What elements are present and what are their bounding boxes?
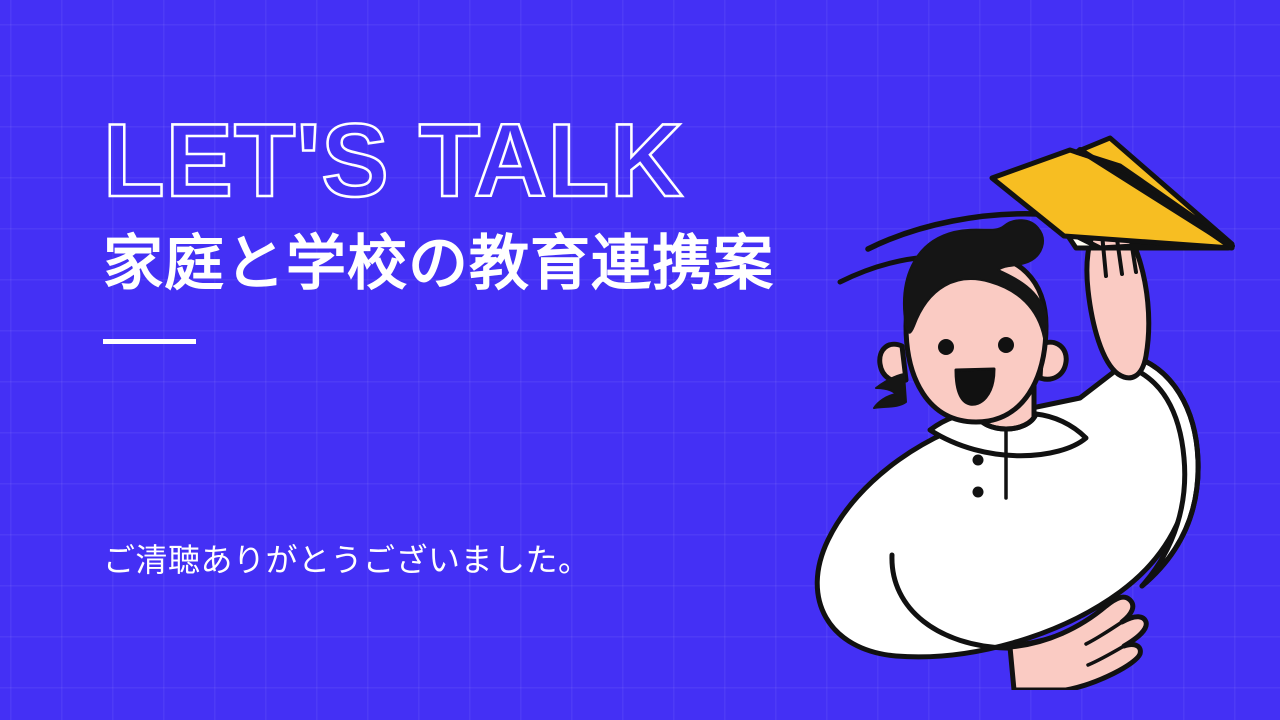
closing-text: ご清聴ありがとうございました。 <box>103 540 591 582</box>
slide-canvas: LET'S TALK 家庭と学校の教育連携案 ご清聴ありがとうございました。 <box>0 0 1280 720</box>
illustration-person-throwing-paper-airplane <box>780 130 1280 690</box>
text-block: LET'S TALK 家庭と学校の教育連携案 <box>103 112 883 344</box>
divider-rule <box>103 339 196 344</box>
page-title: LET'S TALK <box>103 112 860 212</box>
subtitle: 家庭と学校の教育連携案 <box>103 230 883 297</box>
